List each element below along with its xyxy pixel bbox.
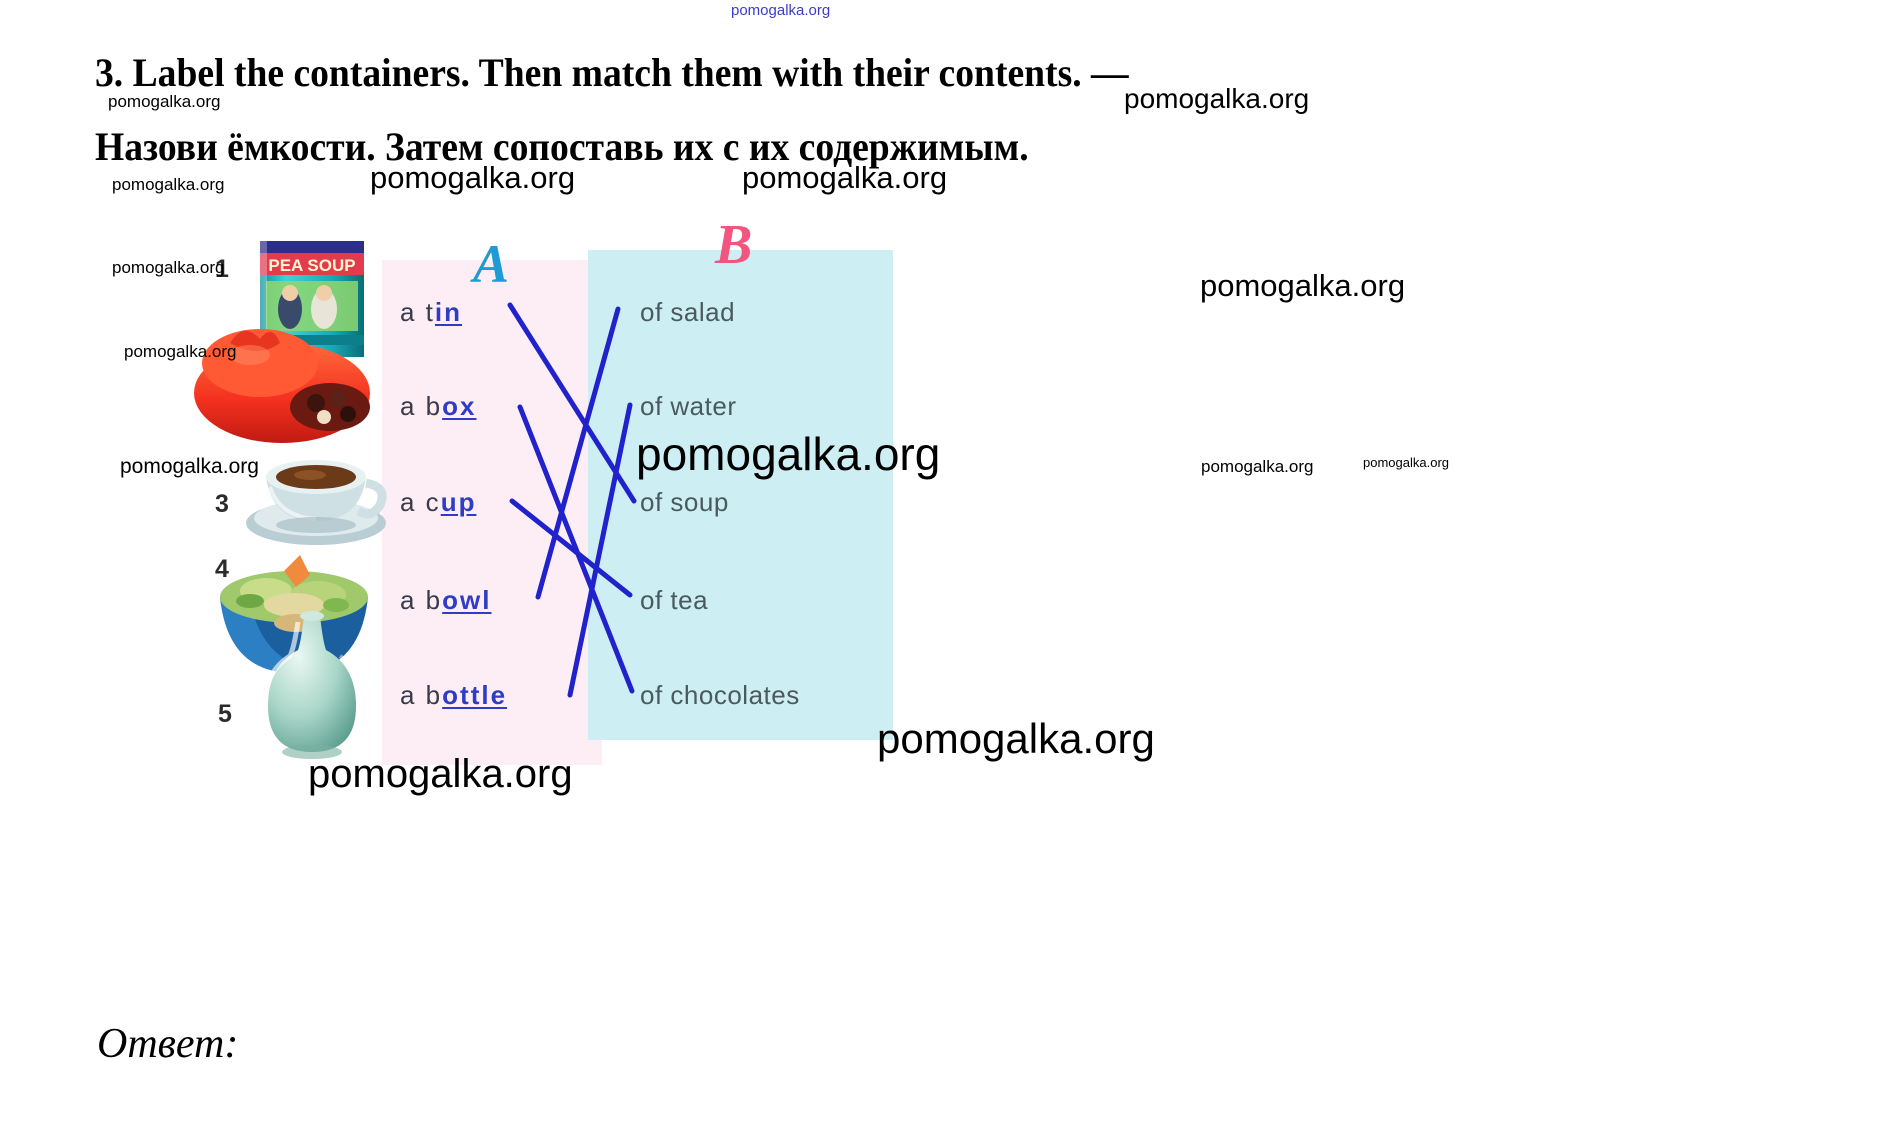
answer-label: Ответ:	[97, 1020, 238, 1068]
page-title-line-en: 3. Label the containers. Then match them…	[95, 36, 1411, 110]
page-title: 3. Label the containers. Then match them…	[95, 36, 1411, 184]
match-line-cup-tea	[512, 501, 630, 595]
page-title-line-ru: Назови ёмкости. Затем сопоставь их с их …	[95, 110, 1411, 184]
exercise-figure: A B 1 2 3 4 5 PEA SOUP	[110, 205, 910, 775]
watermark-13: pomogalka.org	[877, 715, 1155, 763]
watermark-12: pomogalka.org	[1363, 455, 1449, 470]
watermark-11: pomogalka.org	[1201, 457, 1313, 477]
matching-lines	[110, 205, 910, 775]
watermark-7: pomogalka.org	[1200, 268, 1405, 304]
watermark-0: pomogalka.org	[731, 2, 830, 19]
